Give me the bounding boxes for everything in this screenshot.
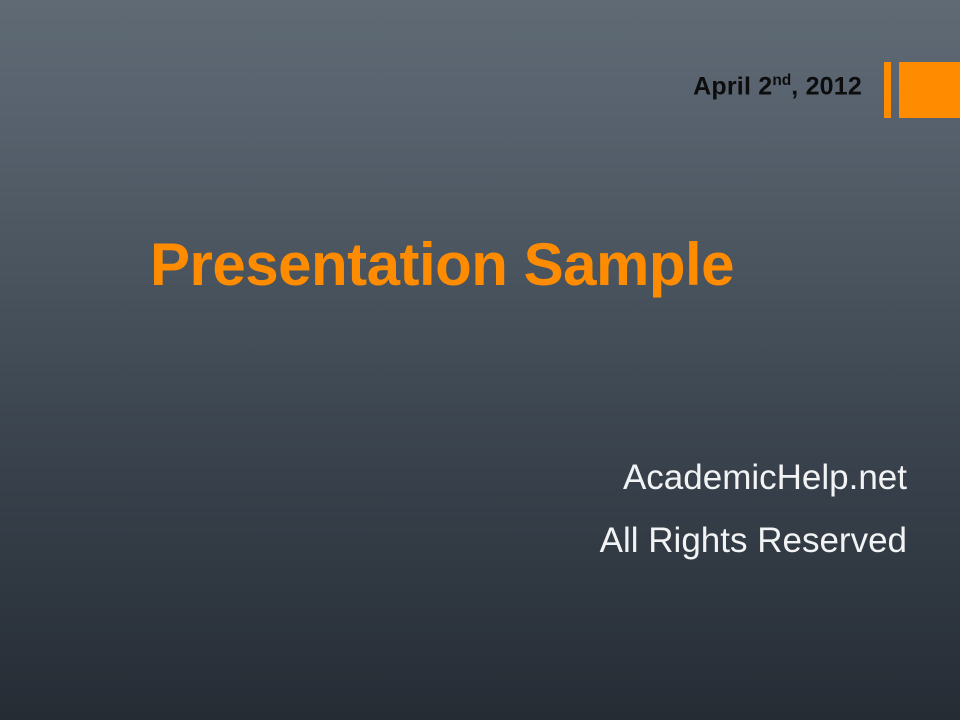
accent-bar-thin-icon	[884, 62, 891, 118]
date-year: , 2012	[791, 72, 862, 100]
subtitle-line-rights: All Rights Reserved	[0, 523, 907, 558]
slide-subtitle: AcademicHelp.net All Rights Reserved	[0, 460, 907, 558]
date-month-day: April 2	[693, 72, 772, 100]
subtitle-line-website: AcademicHelp.net	[0, 460, 907, 495]
slide-title: Presentation Sample	[150, 231, 734, 298]
orange-accent-decoration	[884, 62, 960, 118]
slide-date: April 2nd, 2012	[0, 73, 862, 99]
presentation-slide: April 2nd, 2012 Presentation Sample Acad…	[0, 0, 960, 720]
accent-bar-wide-icon	[899, 62, 960, 118]
date-ordinal-suffix: nd	[772, 72, 791, 89]
